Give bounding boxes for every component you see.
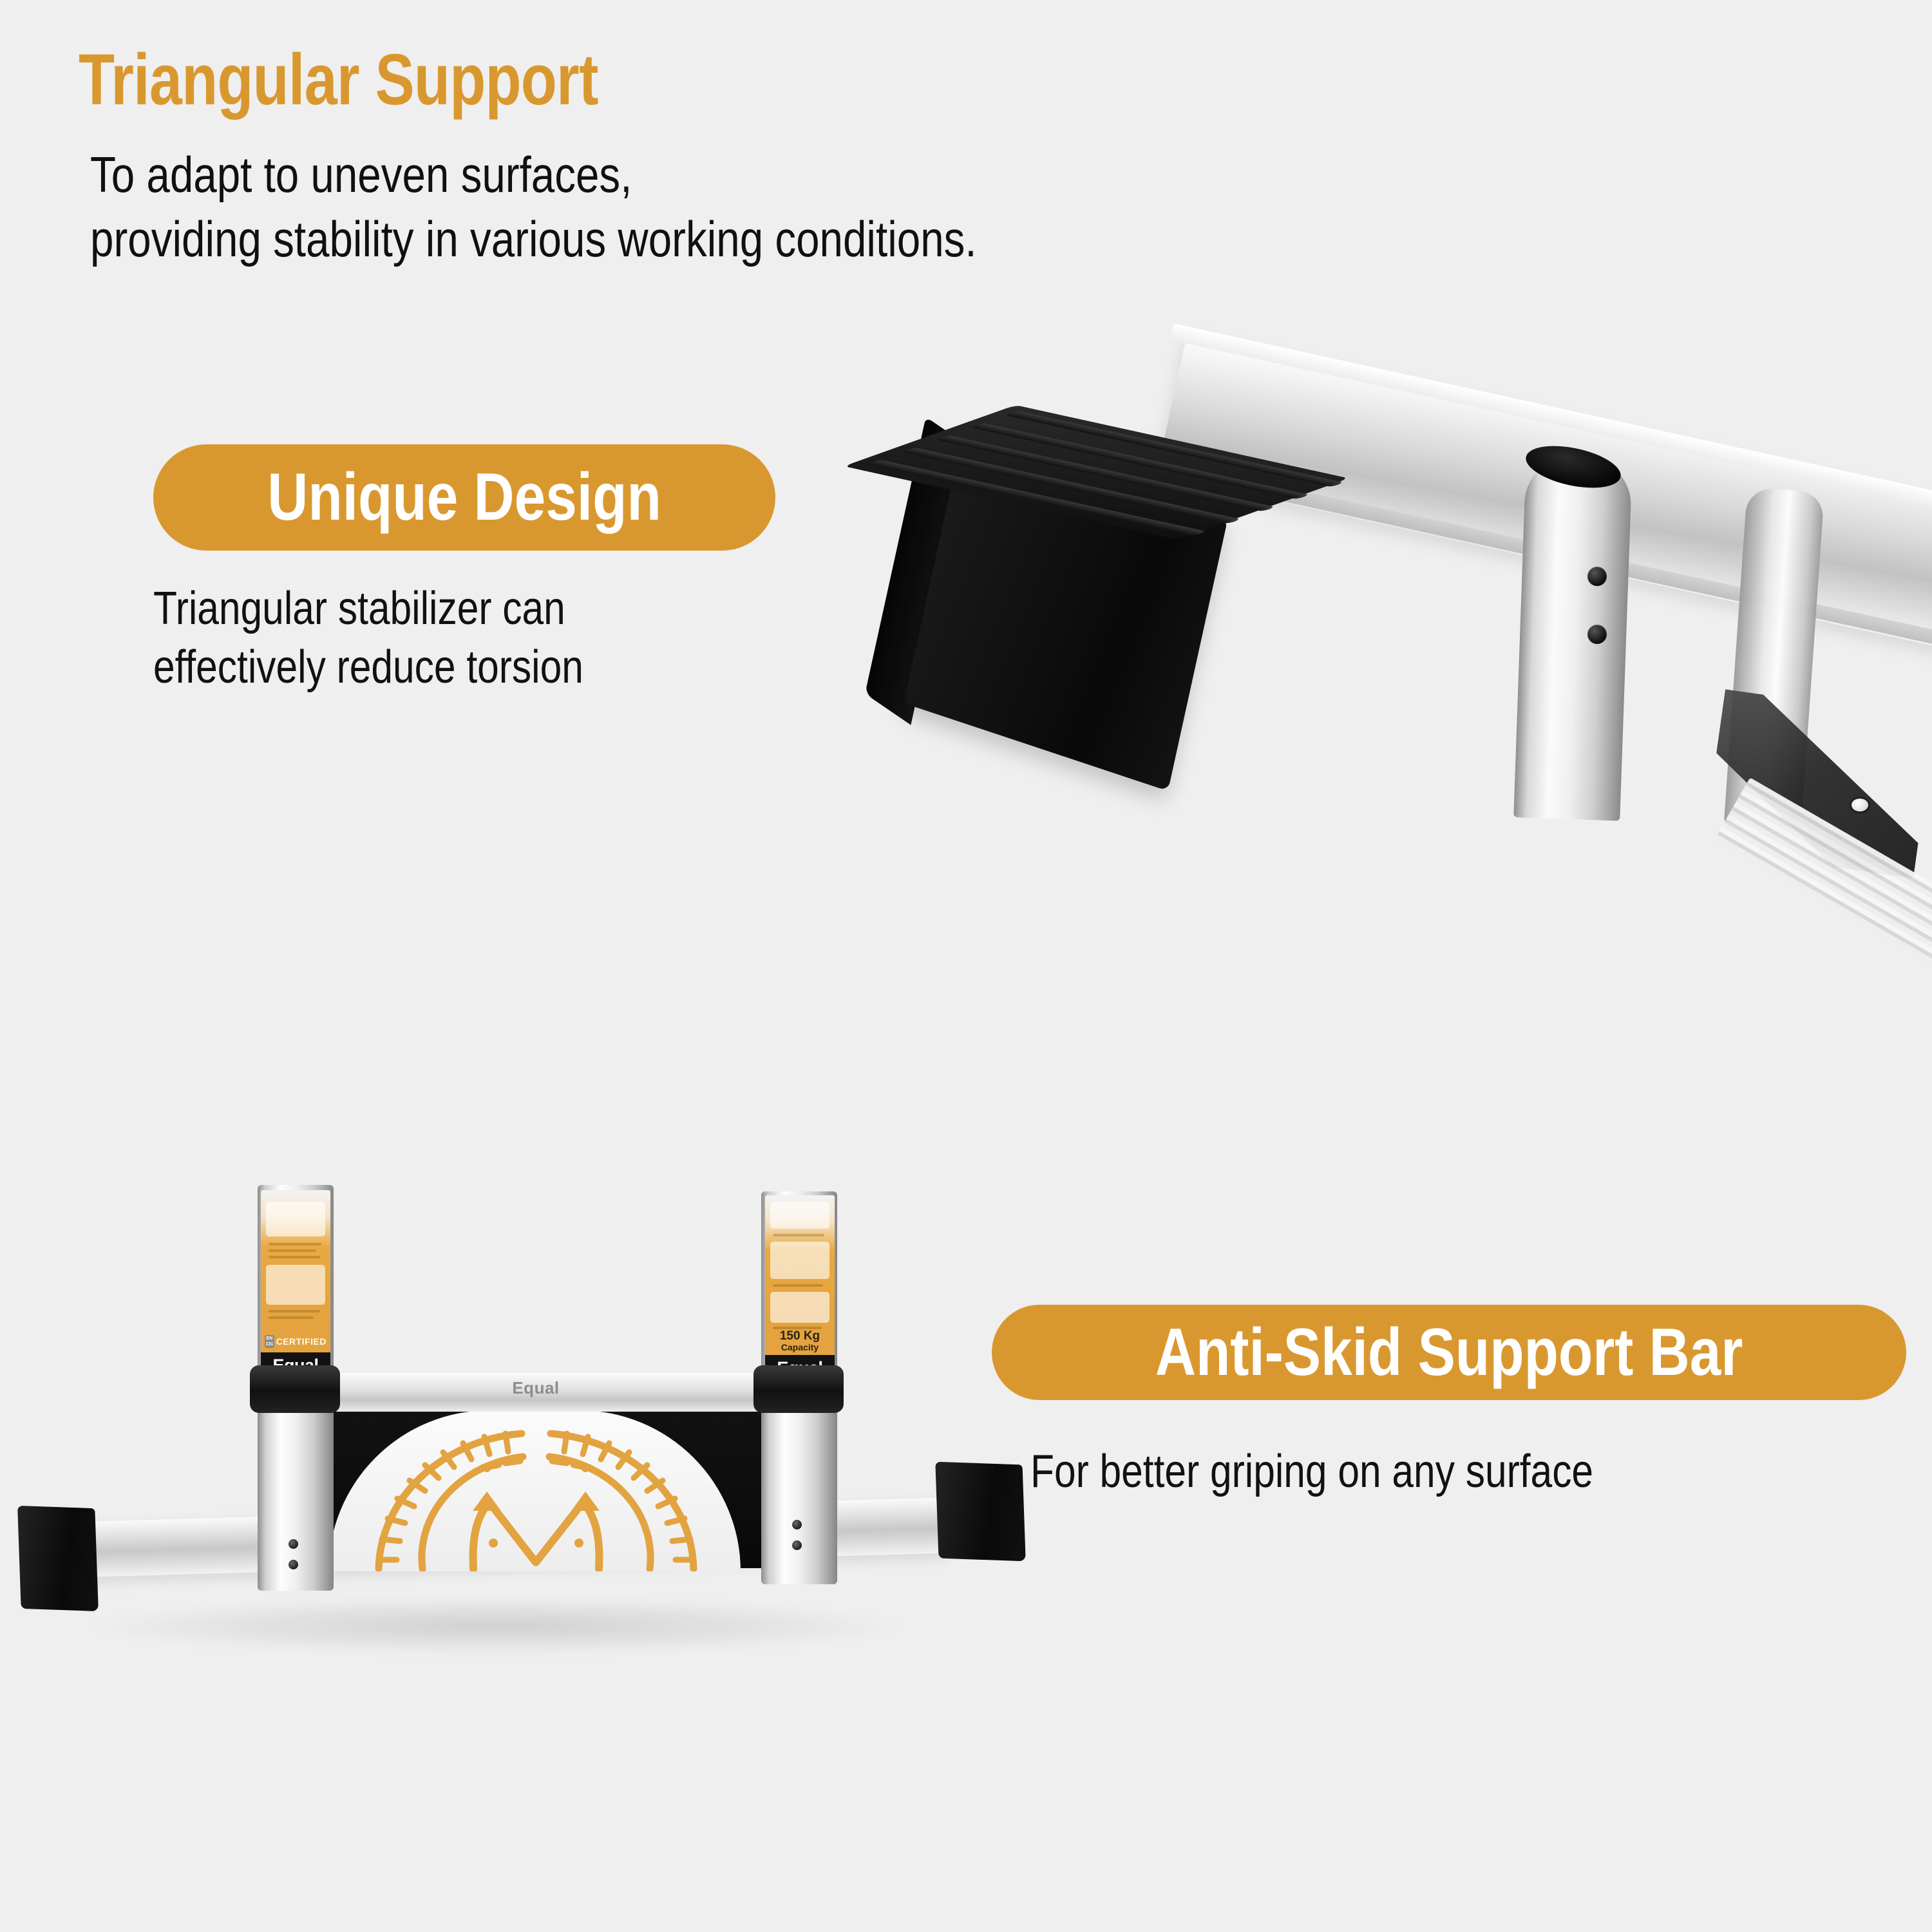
capacity-word: Capacity	[765, 1343, 835, 1352]
ground-shadow	[77, 1597, 914, 1655]
certified-text: CERTIFIED	[276, 1336, 327, 1347]
angle-protractor-graphic	[361, 1417, 712, 1571]
post-collar-left	[250, 1365, 340, 1413]
post-rivet	[792, 1520, 802, 1529]
page-title: Triangular Support	[79, 44, 598, 116]
warning-sticker-right: 150 Kg Capacity Equal	[765, 1195, 835, 1381]
en131-certified-mark: EN 131 CERTIFIED	[265, 1334, 327, 1349]
badge-unique-design-label: Unique Design	[267, 459, 661, 536]
tube-rivet	[1587, 567, 1607, 586]
vertical-aluminium-tube	[1513, 457, 1632, 820]
post-collar-right	[753, 1365, 844, 1413]
triangular-stabilizer-photo: Equal EN 131 CERTIFIED Equal	[0, 1030, 1133, 1932]
anti-skid-foot-left	[17, 1506, 99, 1611]
anti-skid-cap-photo	[953, 412, 1932, 1133]
product-feature-graphic: Triangular Support To adapt to uneven su…	[0, 0, 1932, 1932]
en131-badge-icon: EN 131	[265, 1335, 274, 1348]
post-rivet	[289, 1539, 298, 1549]
badge-unique-design: Unique Design	[153, 444, 775, 551]
warning-sticker-left: EN 131 CERTIFIED Equal	[261, 1190, 330, 1378]
capacity-label: 150 Kg Capacity	[765, 1330, 835, 1352]
en-label-line1: EN	[265, 1336, 274, 1341]
post-rivet	[289, 1560, 298, 1569]
page-subtitle: To adapt to uneven surfaces, providing s…	[90, 143, 977, 272]
badge-anti-skid-support-bar-label: Anti-Skid Support Bar	[1155, 1314, 1743, 1391]
bracket-hole	[1851, 799, 1868, 811]
caption-unique-design: Triangular stabilizer can effectively re…	[153, 580, 583, 696]
en-label-line2: 131	[265, 1341, 274, 1347]
capacity-value: 150 Kg	[765, 1330, 835, 1343]
post-rivet	[792, 1540, 802, 1550]
tube-rivet	[1587, 625, 1607, 644]
crossbar-brand-label: Equal	[291, 1378, 781, 1398]
anti-skid-foot-right	[935, 1462, 1025, 1562]
